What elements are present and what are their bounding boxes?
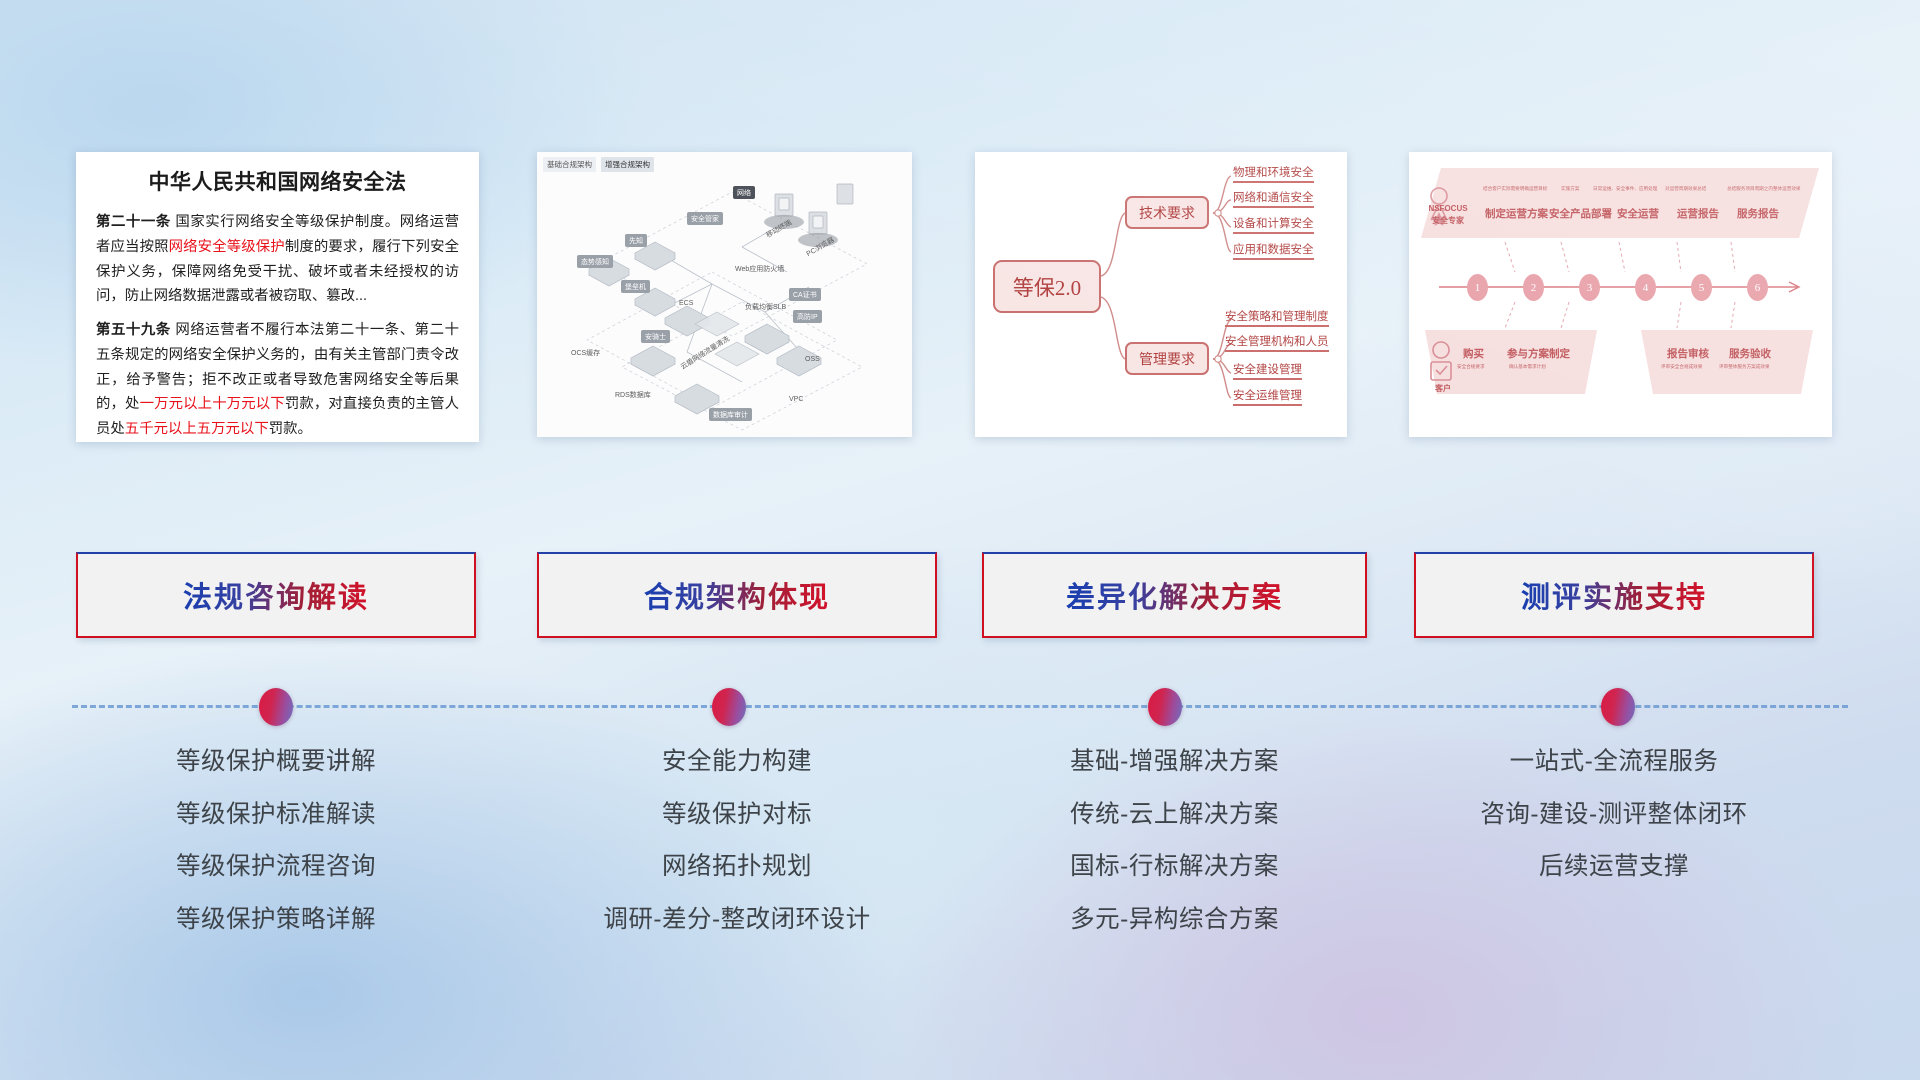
detail-list-1: 等级保护概要讲解 等级保护标准解读 等级保护流程咨询 等级保护策略详解 (76, 736, 476, 946)
roadmap-top-note-5: 总结服务项目周期之内整体运营效果 (1727, 186, 1801, 192)
roadmap-node-2: 2 (1523, 274, 1544, 301)
list-item: 等级保护对标 (537, 789, 937, 842)
category-header-box-2[interactable]: 合规架构体现 (537, 552, 937, 638)
iso-chip-anti-ddos-ip: 高防IP (793, 310, 822, 323)
mindmap-root-node: 等保2.0 (993, 260, 1101, 313)
card-cybersecurity-law[interactable]: 中华人民共和国网络安全法 第二十一条 国家实行网络安全等级保护制度。网络运营者应… (76, 152, 479, 442)
list-item: 后续运营支撑 (1414, 841, 1814, 894)
card-compliance-architecture[interactable]: 基础合规架构 增强合规架构 (537, 152, 912, 437)
iso-chip-db-audit: 数据库审计 (709, 408, 752, 421)
page-background: 中华人民共和国网络安全法 第二十一条 国家实行网络安全等级保护制度。网络运营者应… (0, 0, 1920, 1080)
category-header-label-3: 差异化解决方案 (1066, 574, 1283, 616)
category-header-box-1[interactable]: 法规咨询解读 (76, 552, 476, 638)
timeline-dot-3 (1148, 688, 1182, 726)
law-card-body: 中华人民共和国网络安全法 第二十一条 国家实行网络安全等级保护制度。网络运营者应… (76, 152, 479, 442)
roadmap-node-4: 4 (1635, 274, 1656, 301)
thumbnail-row: 中华人民共和国网络安全法 第二十一条 国家实行网络安全等级保护制度。网络运营者应… (0, 152, 1920, 442)
mindmap-branch-technical: 技术要求 (1125, 196, 1209, 229)
architecture-diagram: 基础合规架构 增强合规架构 (537, 152, 912, 437)
mindmap-leaf-physical-env: 物理和环境安全 (1233, 166, 1314, 183)
roadmap-bottom-note-1: 安全合规要求 (1457, 364, 1485, 370)
timeline-dot-2 (712, 688, 746, 726)
detail-list-4: 一站式-全流程服务 咨询-建设-测评整体闭环 后续运营支撑 (1414, 736, 1814, 894)
iso-chip-situational-awareness: 态势感知 (577, 255, 613, 268)
iso-chip-ca-certificate: CA证书 (789, 288, 821, 301)
roadmap-top-note-1: 结合客户实际需要明确运营目标 (1483, 186, 1547, 192)
category-header-label-1: 法规咨询解读 (183, 574, 369, 616)
tab-basic-architecture[interactable]: 基础合规架构 (543, 157, 596, 172)
mindmap-leaf-ops-mgmt: 安全运维管理 (1233, 389, 1302, 406)
mindmap-canvas: 等保2.0 技术要求 管理要求 物理和环境安全 网络和通信安全 设备和计算安全 … (975, 152, 1347, 437)
iso-label-vpc: VPC (789, 396, 803, 403)
list-item: 调研-差分-整改闭环设计 (537, 894, 937, 947)
mindmap-leaf-app-data: 应用和数据安全 (1233, 243, 1314, 260)
tab-enhanced-architecture[interactable]: 增强合规架构 (601, 157, 654, 172)
mindmap-leaf-network-comm: 网络和通信安全 (1233, 191, 1314, 208)
list-item: 国标-行标解决方案 (982, 841, 1367, 894)
architecture-isometric-svg (537, 152, 912, 437)
roadmap-bottom-note-3: 评审安全合规成效果 (1661, 364, 1702, 370)
list-item: 等级保护策略详解 (76, 894, 476, 947)
roadmap-bottom-title-1: 购买 (1463, 346, 1484, 361)
roadmap-top-title-4: 运营报告 (1677, 206, 1719, 221)
list-item: 多元-异构综合方案 (982, 894, 1367, 947)
iso-label-waf: Web应用防火墙 (735, 264, 784, 274)
roadmap-top-note-4: 对运营周期效果总结 (1665, 186, 1706, 192)
iso-label-ecs: ECS (679, 300, 693, 307)
roadmap-top-title-3: 安全运营 (1617, 206, 1659, 221)
mindmap-leaf-org-personnel: 安全管理机构和人员 (1225, 335, 1329, 352)
list-item: 基础-增强解决方案 (982, 736, 1367, 789)
roadmap-actor-expert-line2: 安全专家 (1417, 216, 1479, 226)
roadmap-actor-customer: 客户 (1417, 384, 1469, 394)
roadmap-top-note-3: 日常运维、安全事件、应用处理 (1593, 186, 1657, 192)
roadmap-top-title-1: 制定运营方案 (1485, 206, 1548, 221)
iso-chip-anqishi: 安骑士 (641, 330, 670, 343)
timeline-dot-1 (259, 688, 293, 726)
category-header-row: 法规咨询解读 合规架构体现 差异化解决方案 测评实施支持 (0, 552, 1920, 638)
iso-chip-network: 网络 (733, 186, 755, 199)
roadmap-canvas: NSFOCUS 安全专家 客户 结合客户实际需要明确运营目标 制定运营方案 实施… (1409, 152, 1832, 437)
roadmap-bottom-note-4: 评审整体服务方案成效果 (1719, 364, 1770, 370)
law-paragraph-21: 第二十一条 国家实行网络安全等级保护制度。网络运营者应当按照网络安全等级保护制度… (96, 210, 459, 309)
law-paragraph-59: 第五十九条 网络运营者不履行本法第二十一条、第二十五条规定的网络安全保护义务的，… (96, 318, 459, 442)
iso-label-ocs-cache: OCS缓存 (571, 348, 600, 358)
roadmap-node-1: 1 (1467, 274, 1488, 301)
timeline (0, 676, 1920, 736)
list-item: 等级保护概要讲解 (76, 736, 476, 789)
roadmap-top-note-2: 实施方案 (1561, 186, 1579, 192)
mindmap-leaf-construction-mgmt: 安全建设管理 (1233, 363, 1302, 380)
roadmap-node-3: 3 (1579, 274, 1600, 301)
roadmap-top-title-2: 安全产品部署 (1549, 206, 1612, 221)
list-item: 一站式-全流程服务 (1414, 736, 1814, 789)
law-article-label-59: 第五十九条 (96, 322, 171, 338)
roadmap-bottom-title-3: 报告审核 (1667, 346, 1709, 361)
iso-label-slb: 负载均衡SLB (745, 302, 786, 312)
list-item: 网络拓扑规划 (537, 841, 937, 894)
category-header-label-2: 合规架构体现 (644, 574, 830, 616)
mindmap-branch-management: 管理要求 (1125, 342, 1209, 375)
category-detail-lists: 等级保护概要讲解 等级保护标准解读 等级保护流程咨询 等级保护策略详解 安全能力… (0, 736, 1920, 976)
roadmap-bottom-note-2: 确认基本需求计划 (1509, 364, 1546, 370)
category-header-box-3[interactable]: 差异化解决方案 (982, 552, 1367, 638)
roadmap-bottom-title-2: 参与方案制定 (1507, 346, 1570, 361)
iso-chip-security-butler: 安全管家 (687, 212, 723, 225)
law59-seg-3-highlight: 五千元以上五万元以下 (125, 421, 269, 437)
law-title: 中华人民共和国网络安全法 (96, 166, 459, 196)
law59-seg-1-highlight: 一万元以上十万元以下 (140, 396, 285, 412)
card-nsfocus-roadmap[interactable]: NSFOCUS 安全专家 客户 结合客户实际需要明确运营目标 制定运营方案 实施… (1409, 152, 1832, 437)
list-item: 传统-云上解决方案 (982, 789, 1367, 842)
roadmap-bottom-title-4: 服务验收 (1729, 346, 1771, 361)
iso-label-oss: OSS (805, 356, 820, 363)
detail-list-2: 安全能力构建 等级保护对标 网络拓扑规划 调研-差分-整改闭环设计 (537, 736, 937, 946)
iso-chip-foresight: 先知 (625, 234, 647, 247)
roadmap-node-5: 5 (1691, 274, 1712, 301)
card-dengbao-mindmap[interactable]: 等保2.0 技术要求 管理要求 物理和环境安全 网络和通信安全 设备和计算安全 … (975, 152, 1347, 437)
category-header-box-4[interactable]: 测评实施支持 (1414, 552, 1814, 638)
iso-chip-bastion-host: 堡垒机 (621, 280, 650, 293)
roadmap-top-title-5: 服务报告 (1737, 206, 1779, 221)
timeline-dot-4 (1601, 688, 1635, 726)
category-header-label-4: 测评实施支持 (1521, 574, 1707, 616)
iso-label-rds-db: RDS数据库 (615, 390, 651, 400)
list-item: 等级保护标准解读 (76, 789, 476, 842)
list-item: 等级保护流程咨询 (76, 841, 476, 894)
detail-list-3: 基础-增强解决方案 传统-云上解决方案 国标-行标解决方案 多元-异构综合方案 (982, 736, 1367, 946)
law-article-label-21: 第二十一条 (96, 214, 171, 230)
roadmap-node-6: 6 (1747, 274, 1768, 301)
roadmap-actor-expert-line1: NSFOCUS (1417, 204, 1479, 214)
law59-seg-4: 罚款。 (269, 421, 312, 437)
mindmap-leaf-device-compute: 设备和计算安全 (1233, 217, 1314, 234)
law-seg-1-highlight: 网络安全等级保护 (169, 239, 285, 255)
timeline-dashed-line (72, 705, 1848, 708)
architecture-tab-bar[interactable]: 基础合规架构 增强合规架构 (543, 157, 654, 172)
mindmap-leaf-policy-system: 安全策略和管理制度 (1225, 310, 1329, 327)
list-item: 安全能力构建 (537, 736, 937, 789)
list-item: 咨询-建设-测评整体闭环 (1414, 789, 1814, 842)
